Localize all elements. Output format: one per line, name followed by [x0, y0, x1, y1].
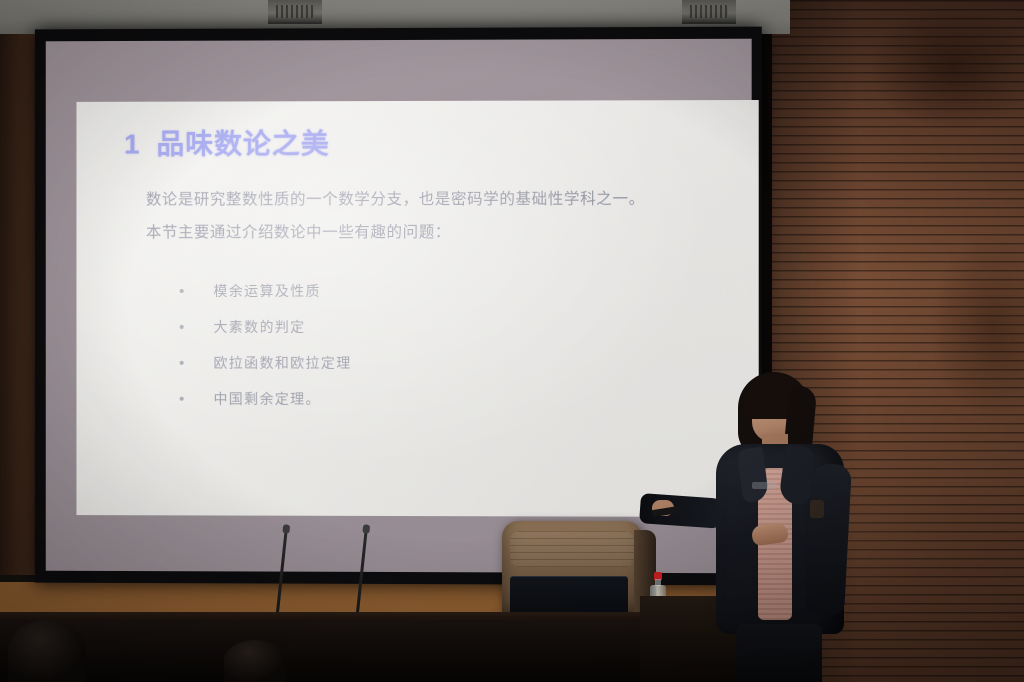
bullet-dot-icon: [180, 325, 184, 329]
bullet-dot-icon: [180, 361, 184, 365]
audience-head: [224, 640, 286, 682]
ceiling-vent-right-icon: [682, 0, 736, 24]
slide-title-text: 品味数论之美: [156, 128, 329, 159]
slide-title-number: 1: [124, 129, 140, 160]
microphone-group: [0, 522, 1, 622]
lecture-hall-photo: 1品味数论之美 数论是研究整数性质的一个数学分支，也是密码学的基础性学科之一。 …: [0, 0, 1024, 682]
bullet-label: 大素数的判定: [213, 317, 305, 337]
presenter-legs: [736, 624, 822, 682]
coat-sleeve-patch: [810, 500, 824, 518]
bullet-dot-icon: [180, 289, 184, 293]
slide-bullet-list: 模余运算及性质 大素数的判定 欧拉函数和欧拉定理 中国剩余定理。: [180, 273, 352, 417]
list-item: 大素数的判定: [180, 309, 352, 345]
list-item: 中国剩余定理。: [180, 381, 352, 417]
presenter-right-arm: [804, 463, 852, 615]
slide-title: 1品味数论之美: [124, 122, 330, 162]
bullet-label: 中国剩余定理。: [213, 389, 320, 409]
bullet-label: 欧拉函数和欧拉定理: [213, 353, 351, 373]
bullet-label: 模余运算及性质: [213, 281, 320, 301]
audience-head: [8, 620, 86, 682]
coat-logo: [752, 482, 776, 489]
list-item: 模余运算及性质: [180, 273, 352, 309]
slide-body-line-2: 本节主要通过介绍数论中一些有趣的问题：: [146, 216, 733, 250]
presenter: [700, 372, 860, 682]
slide-body: 数论是研究整数性质的一个数学分支，也是密码学的基础性学科之一。 本节主要通过介绍…: [146, 182, 733, 249]
slide-body-line-1: 数论是研究整数性质的一个数学分支，也是密码学的基础性学科之一。: [146, 182, 733, 216]
projected-slide: 1品味数论之美 数论是研究整数性质的一个数学分支，也是密码学的基础性学科之一。 …: [76, 100, 758, 517]
list-item: 欧拉函数和欧拉定理: [180, 345, 352, 381]
bullet-dot-icon: [180, 397, 184, 401]
ceiling-vent-left-icon: [268, 0, 322, 24]
